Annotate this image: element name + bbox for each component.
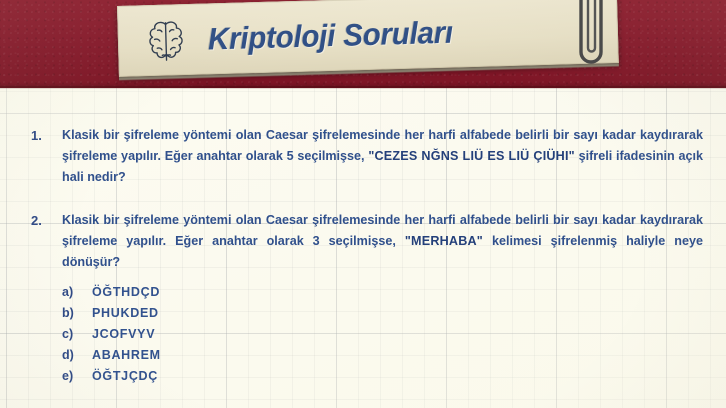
option-text: ÖĞTHDÇD [92,285,382,299]
question-cipher-text: "MERHABA" [405,234,483,248]
worksheet-page: Kriptoloji Soruları 1. Klasik bir şifrel… [0,0,726,408]
question-item: 1. Klasik bir şifreleme yöntemi olan Cae… [31,125,703,188]
question-cipher-text: "CEZES NĞNS LIÜ ES LIÜ ÇIÜHI" [368,149,575,163]
header-band-edge [0,86,726,89]
question-item: 2. Klasik bir şifreleme yöntemi olan Cae… [31,210,703,273]
answer-option-c[interactable]: c) JCOFVYV [62,327,382,348]
option-text: ÖĞTJÇDÇ [92,369,382,383]
answer-option-d[interactable]: d) ABAHREM [62,348,382,369]
option-letter: a) [62,285,92,299]
option-letter: d) [62,348,92,362]
brain-icon [139,13,192,66]
page-title: Kriptoloji Soruları [207,12,544,57]
paperclip-icon [571,0,611,88]
option-text: PHUKDED [92,306,382,320]
option-letter: b) [62,306,92,320]
questions-content: 1. Klasik bir şifreleme yöntemi olan Cae… [0,92,726,408]
question-text: Klasik bir şifreleme yöntemi olan Caesar… [62,125,703,188]
answer-options-list: a) ÖĞTHDÇD b) PHUKDED c) JCOFVYV d) ABAH… [62,285,382,390]
question-text: Klasik bir şifreleme yöntemi olan Caesar… [62,210,703,273]
answer-option-e[interactable]: e) ÖĞTJÇDÇ [62,369,382,390]
title-banner: Kriptoloji Soruları [117,0,619,77]
answer-option-b[interactable]: b) PHUKDED [62,306,382,327]
option-letter: c) [62,327,92,341]
option-text: ABAHREM [92,348,382,362]
question-number: 1. [31,125,62,188]
question-number: 2. [31,210,62,273]
answer-option-a[interactable]: a) ÖĞTHDÇD [62,285,382,306]
option-letter: e) [62,369,92,383]
option-text: JCOFVYV [92,327,382,341]
